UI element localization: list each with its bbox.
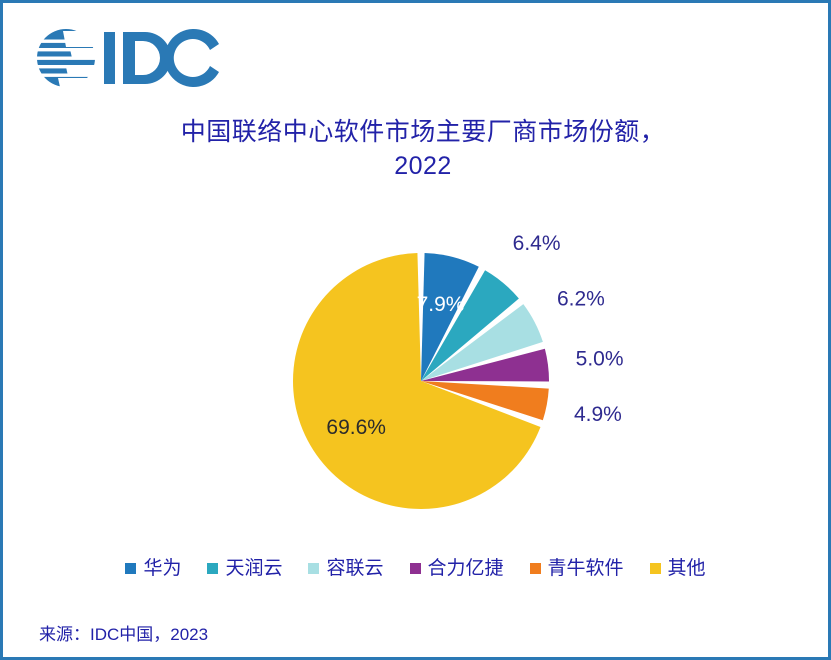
idc-logo-svg	[36, 27, 221, 89]
legend-item-label: 华为	[143, 559, 181, 578]
idc-logo	[36, 27, 221, 89]
legend-color-swatch	[650, 563, 661, 574]
legend-color-swatch	[308, 563, 319, 574]
globe-striped-icon	[36, 29, 98, 87]
legend-item[interactable]: 合力亿捷	[410, 559, 504, 578]
legend-item-label: 容联云	[326, 559, 383, 578]
idc-wordmark	[104, 29, 219, 87]
legend-item[interactable]: 容联云	[308, 559, 383, 578]
pie-slice-label: 6.4%	[513, 232, 561, 255]
legend-item-label: 合力亿捷	[428, 559, 504, 578]
legend-item[interactable]: 华为	[125, 559, 181, 578]
chart-title: 中国联络中心软件市场主要厂商市场份额， 2022	[113, 115, 733, 183]
pie-slice-label: 6.2%	[557, 287, 605, 310]
pie-slice-label: 5.0%	[576, 347, 624, 370]
pie-slice-label: 69.6%	[326, 416, 386, 439]
chart-page: 中国联络中心软件市场主要厂商市场份额， 2022 7.9%6.4%6.2%5.0…	[0, 0, 831, 660]
pie-slice-label: 4.9%	[574, 403, 622, 426]
source-note: 来源：IDC中国，2023	[39, 620, 208, 645]
legend-item-label: 天润云	[225, 559, 282, 578]
legend-item-label: 青牛软件	[548, 559, 624, 578]
pie-slice-label: 7.9%	[417, 293, 465, 316]
legend-color-swatch	[207, 563, 218, 574]
legend-color-swatch	[125, 563, 136, 574]
pie-slices[interactable]	[293, 253, 549, 509]
legend-color-swatch	[530, 563, 541, 574]
pie-chart-plot-area: 7.9%6.4%6.2%5.0%4.9%69.6%	[3, 213, 828, 533]
chart-title-line-2: 2022	[113, 149, 733, 183]
legend-item[interactable]: 天润云	[207, 559, 282, 578]
chart-legend[interactable]: 华为天润云容联云合力亿捷青牛软件其他	[3, 559, 828, 578]
chart-title-line-1: 中国联络中心软件市场主要厂商市场份额，	[181, 118, 666, 146]
legend-item[interactable]: 青牛软件	[530, 559, 624, 578]
legend-color-swatch	[410, 563, 421, 574]
legend-item-label: 其他	[668, 559, 706, 578]
legend-item[interactable]: 其他	[650, 559, 706, 578]
pie-chart-svg: 7.9%6.4%6.2%5.0%4.9%69.6%	[3, 213, 828, 533]
